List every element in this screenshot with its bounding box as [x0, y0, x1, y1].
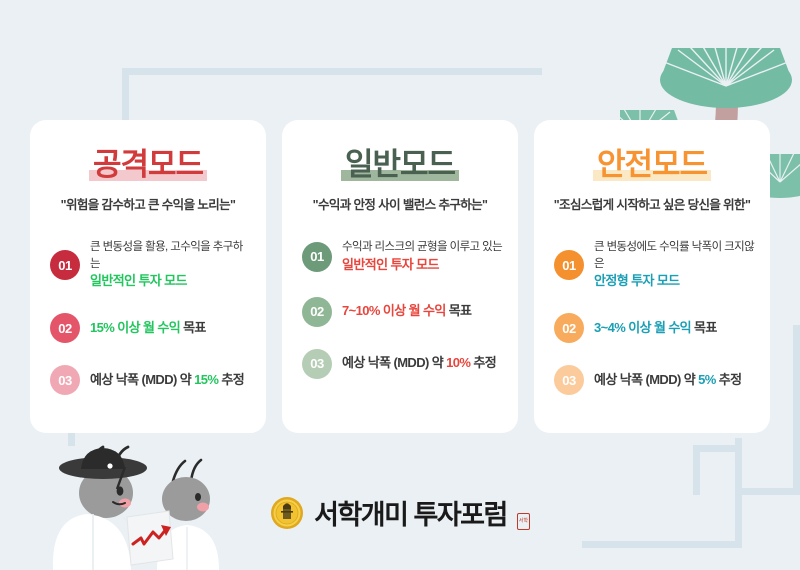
- list-item: 01 큰 변동성에도 수익률 낙폭이 크지않은 안정형 투자 모드: [548, 239, 756, 291]
- card-title-wrap: 안전모드: [597, 148, 707, 182]
- item-number-badge: 03: [302, 349, 332, 379]
- item-highlight: 15%: [194, 372, 218, 387]
- item-number-badge: 02: [554, 313, 584, 343]
- item-plain: 목표: [446, 303, 472, 318]
- item-prefix: 예상 낙폭 (MDD) 약: [594, 372, 698, 387]
- list-item: 02 3~4% 이상 월 수익 목표: [548, 313, 756, 343]
- card-subtitle: "조심스럽게 시작하고 싶은 당신을 위한": [554, 194, 751, 213]
- item-highlight: 10%: [446, 355, 470, 370]
- item-text: 7~10% 이상 월 수익 목표: [342, 302, 471, 321]
- item-number-badge: 01: [50, 250, 80, 280]
- card-normal-mode[interactable]: 일반모드 "수익과 안정 사이 밸런스 추구하는" 01 수익과 리스크의 균형…: [282, 120, 518, 433]
- brand-name: 서학개미 투자포럼: [314, 493, 507, 532]
- item-text: 3~4% 이상 월 수익 목표: [594, 319, 717, 338]
- item-highlight: 15% 이상 월 수익: [90, 320, 180, 335]
- deco-line: [793, 325, 800, 495]
- card-items: 01 큰 변동성에도 수익률 낙폭이 크지않은 안정형 투자 모드 02 3~4…: [548, 239, 756, 395]
- item-line-2: 일반적인 투자 모드: [90, 272, 252, 291]
- item-number-badge: 02: [302, 297, 332, 327]
- gold-coin-icon: [270, 496, 304, 530]
- card-title: 공격모드: [93, 148, 203, 182]
- list-item: 01 큰 변동성을 활용, 고수익을 추구하는 일반적인 투자 모드: [44, 239, 252, 291]
- list-item: 03 예상 낙폭 (MDD) 약 10% 추정: [296, 349, 504, 379]
- card-safe-mode[interactable]: 안전모드 "조심스럽게 시작하고 싶은 당신을 위한" 01 큰 변동성에도 수…: [534, 120, 770, 433]
- item-highlight: 3~4% 이상 월 수익: [594, 320, 691, 335]
- card-subtitle: "수익과 안정 사이 밸런스 추구하는": [313, 194, 488, 213]
- item-line-2: 일반적인 투자 모드: [342, 256, 502, 275]
- deco-line: [693, 445, 742, 452]
- item-highlight: 7~10% 이상 월 수익: [342, 303, 446, 318]
- item-number-badge: 03: [554, 365, 584, 395]
- item-suffix: 추정: [716, 372, 742, 387]
- card-title-wrap: 공격모드: [93, 148, 203, 182]
- list-item: 03 예상 낙폭 (MDD) 약 15% 추정: [44, 365, 252, 395]
- card-subtitle: "위험을 감수하고 큰 수익을 노리는": [61, 194, 236, 213]
- item-number-badge: 01: [554, 250, 584, 280]
- card-items: 01 큰 변동성을 활용, 고수익을 추구하는 일반적인 투자 모드 02 15…: [44, 239, 252, 395]
- card-title: 일반모드: [345, 148, 455, 182]
- list-item: 02 15% 이상 월 수익 목표: [44, 313, 252, 343]
- deco-line: [122, 68, 542, 75]
- card-items: 01 수익과 리스크의 균형을 이루고 있는 일반적인 투자 모드 02 7~1…: [296, 239, 504, 379]
- list-item: 03 예상 낙폭 (MDD) 약 5% 추정: [548, 365, 756, 395]
- item-suffix: 추정: [218, 372, 244, 387]
- item-number-badge: 02: [50, 313, 80, 343]
- deco-line: [582, 541, 742, 548]
- item-suffix: 추정: [470, 355, 496, 370]
- item-line-1: 큰 변동성에도 수익률 낙폭이 크지않은: [594, 239, 756, 272]
- list-item: 01 수익과 리스크의 균형을 이루고 있는 일반적인 투자 모드: [296, 239, 504, 275]
- item-text: 15% 이상 월 수익 목표: [90, 319, 206, 338]
- brand-seal: 서학: [517, 513, 530, 530]
- item-text: 예상 낙폭 (MDD) 약 5% 추정: [594, 371, 741, 390]
- list-item: 02 7~10% 이상 월 수익 목표: [296, 297, 504, 327]
- brand-logo: 서학개미 투자포럼 서학: [0, 493, 800, 532]
- item-line-2: 안정형 투자 모드: [594, 272, 756, 291]
- item-prefix: 예상 낙폭 (MDD) 약: [90, 372, 194, 387]
- item-text: 예상 낙폭 (MDD) 약 15% 추정: [90, 371, 244, 390]
- item-text: 큰 변동성에도 수익률 낙폭이 크지않은 안정형 투자 모드: [594, 239, 756, 291]
- item-highlight: 5%: [698, 372, 716, 387]
- item-line-1: 큰 변동성을 활용, 고수익을 추구하는: [90, 239, 252, 272]
- item-text: 큰 변동성을 활용, 고수익을 추구하는 일반적인 투자 모드: [90, 239, 252, 291]
- card-aggressive-mode[interactable]: 공격모드 "위험을 감수하고 큰 수익을 노리는" 01 큰 변동성을 활용, …: [30, 120, 266, 433]
- item-line-1: 수익과 리스크의 균형을 이루고 있는: [342, 239, 502, 256]
- item-plain: 목표: [691, 320, 717, 335]
- mode-cards-container: 공격모드 "위험을 감수하고 큰 수익을 노리는" 01 큰 변동성을 활용, …: [30, 120, 770, 433]
- card-title-wrap: 일반모드: [345, 148, 455, 182]
- item-prefix: 예상 낙폭 (MDD) 약: [342, 355, 446, 370]
- item-number-badge: 03: [50, 365, 80, 395]
- card-title: 안전모드: [597, 148, 707, 182]
- item-text: 예상 낙폭 (MDD) 약 10% 추정: [342, 354, 496, 373]
- item-text: 수익과 리스크의 균형을 이루고 있는 일반적인 투자 모드: [342, 239, 502, 275]
- deco-line: [693, 445, 700, 495]
- item-plain: 목표: [180, 320, 206, 335]
- item-number-badge: 01: [302, 242, 332, 272]
